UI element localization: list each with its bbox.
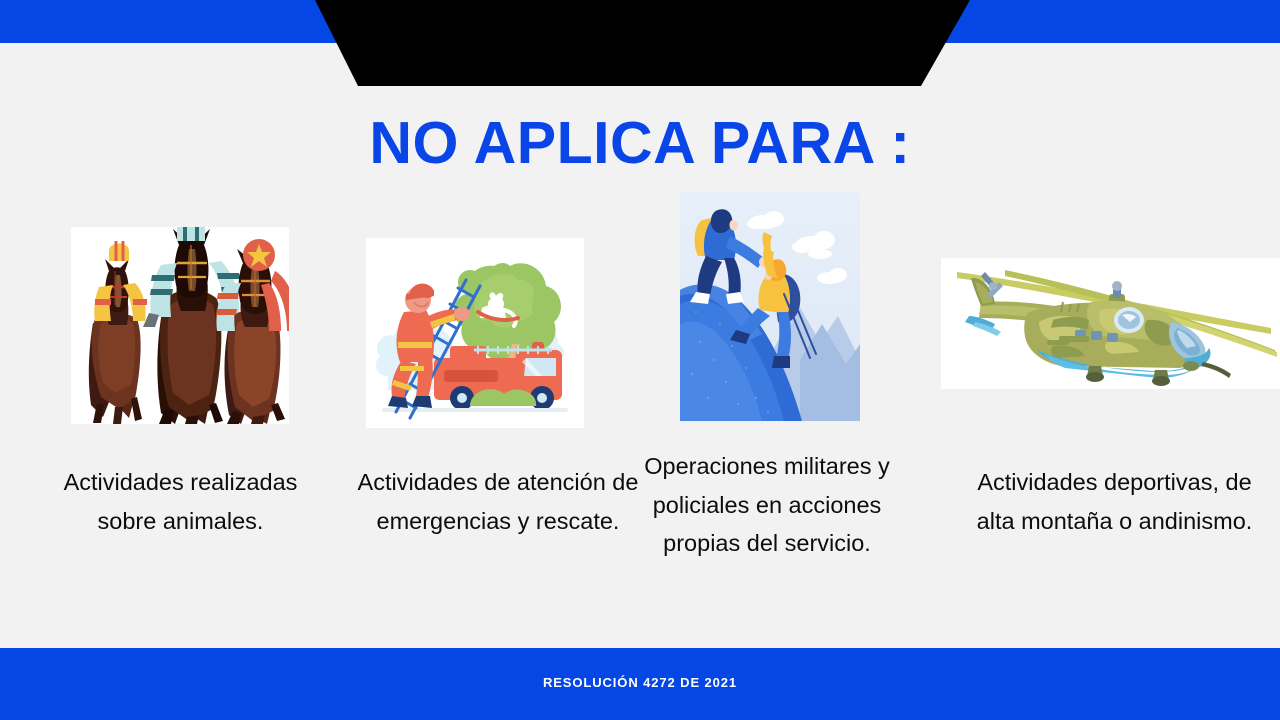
slide-canvas: NO APLICA PARA :: [0, 0, 1280, 720]
mountain-climbers-icon: [680, 192, 860, 421]
page-title: NO APLICA PARA :: [0, 112, 1280, 174]
image-racing-horses: [71, 227, 289, 424]
firefighter-rescue-icon: [366, 238, 584, 428]
military-helicopter-icon: [941, 258, 1280, 389]
gunner-window: [1114, 307, 1144, 333]
racing-horses-icon: [71, 227, 289, 424]
caption-horses: Actividades realizadas sobre animales.: [38, 463, 323, 540]
caption-sports: Actividades deportivas, de alta montaña …: [962, 463, 1267, 540]
caption-military: Operaciones militares y policiales en ac…: [622, 447, 912, 563]
image-firefighter-rescue: [366, 238, 584, 428]
caption-rescue: Actividades de atención de emergencias y…: [348, 463, 648, 540]
image-mountain-climbers: [680, 192, 860, 421]
footer-resolution-text: RESOLUCIÓN 4272 DE 2021: [0, 675, 1280, 690]
image-military-helicopter: [941, 258, 1280, 389]
